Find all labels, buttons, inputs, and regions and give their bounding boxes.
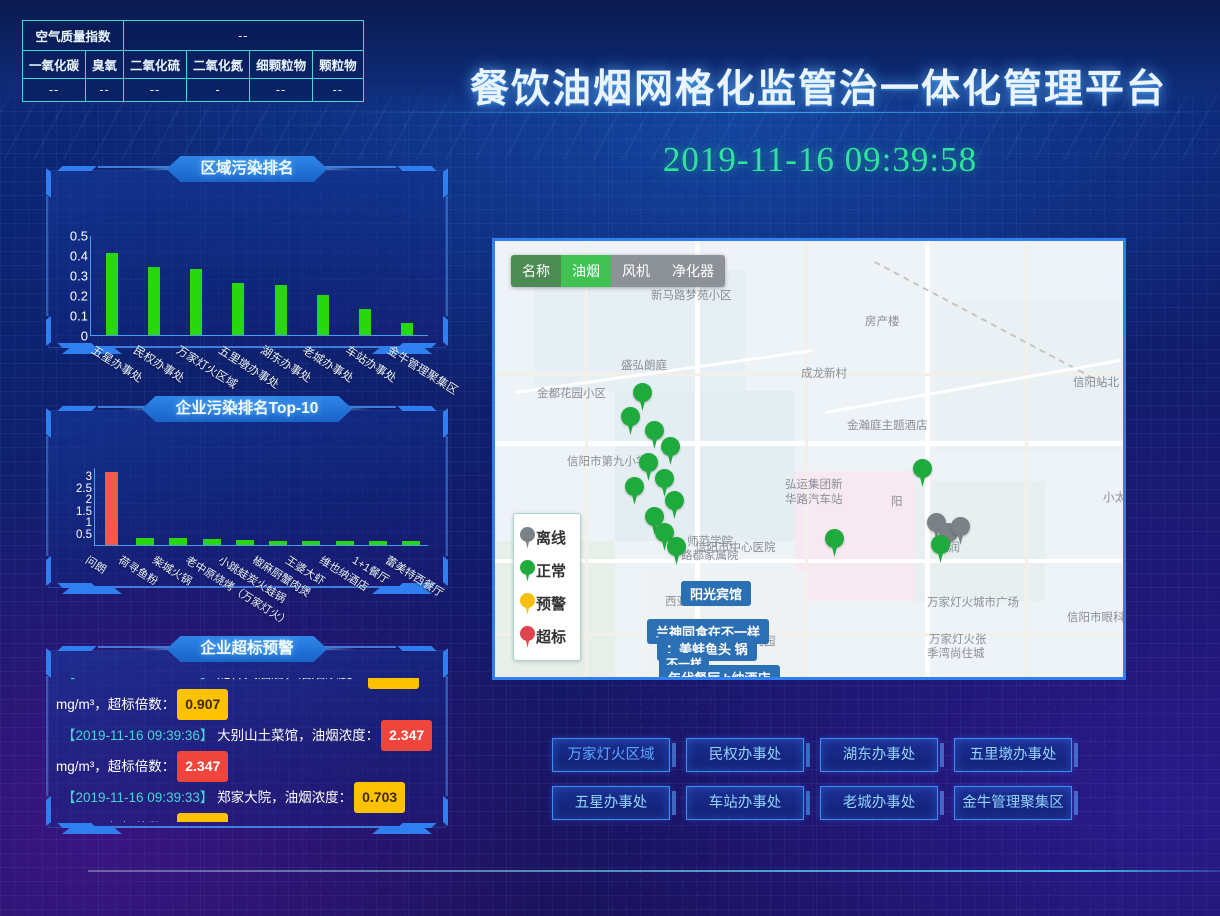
aqi-column-header: 颗粒物 [313,51,364,79]
map-store-tag[interactable]: 年代餐厅 b纳酒店 [659,665,780,677]
alert-enterprise-name: 郑家大院，油烟浓度： [213,790,352,805]
chart-region-pollution: 00.10.20.30.40.5 五星办事处民权办事处万家灯火区域五里墩办事处湖… [56,192,438,338]
chart-bar-slot[interactable] [261,468,294,545]
map-panel[interactable]: 新马路梦苑小区房产楼盛弘朗庭成龙新村信阳站北金都花园小区金瀚庭主题酒店信阳市第九… [492,238,1126,680]
chart-bar-slot[interactable] [175,236,217,335]
map-place-label: 华路汽车站 [785,491,843,507]
map-place-label: 季湾尚住城 [927,645,985,661]
panel-edge-right [446,436,448,556]
panel-title-alerts: 企业超标预警 [166,636,327,662]
map-place-label: 信阳市第九小学 [567,453,648,469]
table-row: 一氧化碳臭氧二氧化硫二氧化氮细颗粒物颗粒物 [23,51,364,79]
chart-y-tick: 0 [81,329,88,344]
panel-edge-right [446,676,448,796]
chart-y-tick: 2 [86,494,92,506]
map-legend-row: 正常 [520,554,576,587]
map-pin-marker[interactable] [913,459,932,487]
chart-bar[interactable] [317,295,329,335]
chart-bar-slot[interactable] [260,236,302,335]
map-place-label: 弘运集团新 [785,476,843,492]
aqi-value: -- [313,79,364,102]
map-tab-3[interactable]: 风机 [611,255,661,287]
aqi-title-value: -- [124,21,364,51]
map-place-label: 阳 [891,493,903,509]
alert-timestamp: 【2019-11-16 09:39:50】 [62,678,213,681]
table-row: ----------- [23,79,364,102]
map-road [495,633,1123,636]
chart-bar-slot[interactable] [195,468,228,545]
chart-y-tick: 2.5 [76,483,92,495]
corner-bracket-top-left [46,646,92,676]
aqi-column-header: 二氧化硫 [124,51,187,79]
chart-bar[interactable] [359,309,371,335]
map-pin-marker[interactable] [665,491,684,519]
chart-y-tick: 0.2 [70,289,88,304]
alert-concentration-badge: 0.703 [354,782,405,813]
map-legend-row: 离线 [520,521,576,554]
alert-concentration-badge: 0.907 [368,678,419,689]
map-road [495,441,1123,446]
map-tab-2[interactable]: 油烟 [561,255,611,287]
map-pin-marker[interactable] [621,407,640,435]
region-button-7[interactable]: 老城办事处 [820,786,938,820]
chart-y-tick: 3 [86,471,92,483]
alert-ratio-badge: 0.703 [177,813,228,822]
chart-plot-area [90,236,428,336]
chart-y-tick: 0.4 [70,249,88,264]
chart-y-axis: 00.10.20.30.40.5 [56,236,88,336]
region-button-3[interactable]: 湖东办事处 [820,738,938,772]
panel-body: 0.511.522.53 问朗荷寻鱼粉柴城火锅老中原烧烤（万家灯火）小跳蛙炭火蛙… [56,432,438,578]
chart-bars [91,236,428,335]
chart-bar[interactable] [402,541,420,545]
alert-item-line2: mg/m³，超标倍数：0.703 [56,813,438,822]
chart-bar-slot[interactable] [295,468,328,545]
chart-plot-area [94,468,428,546]
map-pin-marker[interactable] [951,517,970,545]
chart-bar[interactable] [269,541,287,545]
chart-bar[interactable] [302,541,320,545]
map-pin-marker[interactable] [825,529,844,557]
alert-item-line2: mg/m³，超标倍数：0.907 [56,689,438,720]
alert-item-line1: 【2019-11-16 09:39:50】 龙祥大酒店，油烟浓度：0.907 [56,678,438,689]
map-pin-icon [520,626,535,648]
map-pin-marker[interactable] [625,477,644,505]
alert-ratio-badge: 0.907 [177,689,228,720]
chart-bar[interactable] [236,540,254,545]
aqi-column-header: 二氧化氮 [187,51,250,79]
chart-bar-slot[interactable] [91,236,133,335]
map-place-label: 金瀚庭主题酒店 [847,417,928,433]
aqi-value: -- [86,79,124,102]
region-button-4[interactable]: 五里墩办事处 [954,738,1072,772]
chart-bar[interactable] [106,253,118,335]
chart-y-tick: 0.5 [70,229,88,244]
map-road [495,559,1123,563]
alert-enterprise-name: 龙祥大酒店，油烟浓度： [213,678,365,681]
chart-bar[interactable] [203,539,221,545]
chart-y-tick: 1 [86,517,92,529]
map-pin-marker[interactable] [931,535,950,563]
alert-item-line1: 【2019-11-16 09:39:36】 大别山土菜馆，油烟浓度：2.347 [56,720,438,751]
alert-concentration-badge: 2.347 [381,720,432,751]
map-pin-icon [520,527,535,549]
map-place-label: 房产楼 [865,313,900,329]
panel-enterprise-ranking: 企业污染排名Top-10 0.511.522.53 问朗荷寻鱼粉柴城火锅老中原烧… [42,396,452,596]
corner-bracket-top-right [402,646,448,676]
aqi-value: -- [124,79,187,102]
chart-y-tick: 0.5 [76,529,92,541]
map-legend: 离线正常预警超标 [513,513,581,661]
panel-foot-tab-right [372,826,432,834]
map-legend-label: 正常 [536,560,566,581]
chart-bar-slot[interactable] [162,468,195,545]
chart-bar-slot[interactable] [302,236,344,335]
panel-edge-left [46,436,48,556]
chart-bar-slot[interactable] [344,236,386,335]
aqi-value: -- [23,79,86,102]
chart-bar[interactable] [148,267,160,335]
chart-y-tick: 0.1 [70,309,88,324]
chart-bar-slot[interactable] [395,468,428,545]
panel-foot-tab-left [62,586,122,594]
region-button-1[interactable]: 万家灯火区域 [552,738,670,772]
map-place-label: 信阳市中心医院 [695,539,776,555]
alert-unit: mg/m³，超标倍数： [56,821,175,822]
map-pin-marker[interactable] [661,437,680,465]
chart-y-axis: 0.511.522.53 [60,468,92,546]
alert-list: 【2019-11-16 09:39:50】 龙祥大酒店，油烟浓度：0.907mg… [56,678,438,822]
map-place-label: 成龙新村 [801,365,847,381]
map-store-tag[interactable]: 阳光宾馆 [681,581,751,606]
chart-bar[interactable] [275,285,287,335]
panel-foot-tab-left [62,826,122,834]
alert-timestamp: 【2019-11-16 09:39:33】 [62,790,213,805]
map-place-label: 盛弘朗庭 [621,357,667,373]
chart-bar-slot[interactable] [386,236,428,335]
aqi-column-header: 一氧化碳 [23,51,86,79]
map-pin-marker[interactable] [667,537,686,565]
panel-edge-left [46,196,48,316]
aqi-column-header: 细颗粒物 [250,51,313,79]
chart-bar[interactable] [190,269,202,335]
chart-bar-slot[interactable] [217,236,259,335]
panel-title-region-ranking: 区域污染排名 [166,156,327,182]
panel-enterprise-alerts: 企业超标预警 【2019-11-16 09:39:50】 龙祥大酒店，油烟浓度：… [42,636,452,836]
chart-y-tick: 0.3 [70,269,88,284]
map-place-label: 小太 [1103,489,1123,505]
region-filter-buttons[interactable]: 万家灯火区域民权办事处湖东办事处五里墩办事处五星办事处车站办事处老城办事处金牛管… [552,738,1072,820]
map-legend-label: 超标 [536,626,566,647]
chart-bar[interactable] [169,538,187,545]
clock-display: 2019-11-16 09:39:58 [470,140,1170,180]
alert-item-line2: mg/m³，超标倍数：2.347 [56,751,438,782]
chart-bar-slot[interactable] [133,236,175,335]
footer-rule [88,870,1220,872]
panel-body: 00.10.20.30.40.5 五星办事处民权办事处万家灯火区域五里墩办事处湖… [56,192,438,338]
map-legend-label: 离线 [536,527,566,548]
chart-bar[interactable] [369,541,387,545]
alert-timestamp: 【2019-11-16 09:39:36】 [62,728,213,743]
region-button-6[interactable]: 车站办事处 [686,786,804,820]
map-place-label: 万家灯火城市广场 [927,594,1019,610]
chart-bar-slot[interactable] [328,468,361,545]
aqi-value: - [187,79,250,102]
panel-edge-right [446,196,448,316]
alert-unit: mg/m³，超标倍数： [56,759,175,774]
chart-bar[interactable] [232,283,244,335]
map-road [1025,241,1028,677]
region-button-5[interactable]: 五星办事处 [552,786,670,820]
map-place-label: 信阳市眼科 [1067,609,1123,625]
panel-title-enterprise-ranking: 企业污染排名Top-10 [142,396,353,422]
panel-edge-bottom [98,826,396,828]
aqi-value: -- [250,79,313,102]
map-canvas[interactable]: 新马路梦苑小区房产楼盛弘朗庭成龙新村信阳站北金都花园小区金瀚庭主题酒店信阳市第九… [495,241,1123,677]
map-tab-1[interactable]: 名称 [511,255,561,287]
map-place-label: 新马路梦苑小区 [651,287,732,303]
chart-bar[interactable] [136,538,154,545]
map-tab-4[interactable]: 净化器 [661,255,725,287]
map-layer-tabs[interactable]: 名称油烟风机净化器 [511,255,725,287]
aqi-title: 空气质量指数 [23,21,124,51]
chart-bars [95,468,428,545]
chart-bar[interactable] [105,472,118,545]
alert-ratio-badge: 2.347 [177,751,228,782]
panel-region-pollution-ranking: 区域污染排名 00.10.20.30.40.5 五星办事处民权办事处万家灯火区域… [42,156,452,356]
chart-enterprise-pollution: 0.511.522.53 问朗荷寻鱼粉柴城火锅老中原烧烤（万家灯火）小跳蛙炭火蛙… [56,432,438,578]
panel-body: 【2019-11-16 09:39:50】 龙祥大酒店，油烟浓度：0.907mg… [56,678,438,822]
map-pin-icon [520,560,535,582]
map-legend-row: 超标 [520,620,576,653]
air-quality-table: 空气质量指数 -- 一氧化碳臭氧二氧化硫二氧化氮细颗粒物颗粒物 --------… [22,20,364,102]
chart-x-tick-label: 问朗 [82,552,109,577]
chart-bar-slot[interactable] [95,468,128,545]
map-legend-row: 预警 [520,587,576,620]
page-title: 餐饮油烟网格化监管治一体化管理平台 [470,58,1220,114]
chart-bar-slot[interactable] [128,468,161,545]
region-button-2[interactable]: 民权办事处 [686,738,804,772]
alert-unit: mg/m³，超标倍数： [56,697,175,712]
chart-bar[interactable] [401,323,413,335]
table-row: 空气质量指数 -- [23,21,364,51]
region-button-8[interactable]: 金牛管理聚集区 [954,786,1072,820]
panel-edge-left [46,676,48,796]
map-place-label: 信阳站北 [1073,374,1119,390]
chart-y-tick: 1.5 [76,506,92,518]
map-road [805,241,808,677]
map-place-label: 金都花园小区 [537,385,606,401]
chart-bar-slot[interactable] [361,468,394,545]
chart-bar[interactable] [336,541,354,545]
map-legend-label: 预警 [536,593,566,614]
chart-bar-slot[interactable] [228,468,261,545]
alert-list-scroll[interactable]: 【2019-11-16 09:39:50】 龙祥大酒店，油烟浓度：0.907mg… [56,678,438,822]
map-road [695,241,700,677]
map-pin-icon [520,593,535,615]
alert-item-line1: 【2019-11-16 09:39:33】 郑家大院，油烟浓度：0.703 [56,782,438,813]
alert-enterprise-name: 大别山土菜馆，油烟浓度： [213,728,379,743]
aqi-column-header: 臭氧 [86,51,124,79]
